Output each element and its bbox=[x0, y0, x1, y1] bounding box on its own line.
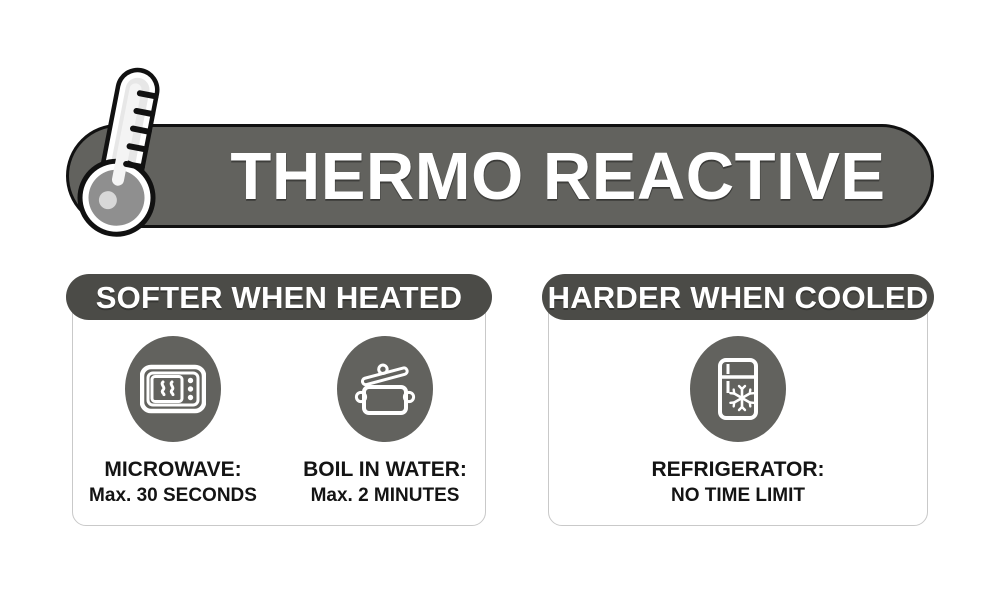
panels-container: SOFTER WHEN HEATED bbox=[66, 274, 934, 526]
microwave-icon-badge bbox=[125, 336, 221, 442]
microwave-icon bbox=[140, 363, 206, 415]
refrigerator-icon bbox=[714, 357, 762, 421]
refrigerator-icon-badge bbox=[690, 336, 786, 442]
item-label: REFRIGERATOR: bbox=[651, 458, 824, 482]
items-row: REFRIGERATOR: NO TIME LIMIT bbox=[645, 320, 831, 506]
thermometer-icon bbox=[62, 50, 202, 250]
item-microwave: MICROWAVE: Max. 30 SECONDS bbox=[80, 336, 266, 506]
panel-header-label: HARDER WHEN COOLED bbox=[548, 282, 929, 313]
item-label: MICROWAVE: bbox=[104, 458, 241, 482]
item-sublabel: Max. 30 SECONDS bbox=[89, 485, 257, 507]
pot-icon bbox=[352, 361, 418, 417]
panel-header-harder: HARDER WHEN COOLED bbox=[542, 274, 934, 320]
item-refrigerator: REFRIGERATOR: NO TIME LIMIT bbox=[645, 336, 831, 506]
item-label: BOIL IN WATER: bbox=[303, 458, 467, 482]
items-row: MICROWAVE: Max. 30 SECONDS bbox=[80, 320, 478, 506]
panel-header-label: SOFTER WHEN HEATED bbox=[96, 282, 462, 313]
infographic-root: THERMO REACTIVE bbox=[0, 0, 1000, 607]
panel-header-softer: SOFTER WHEN HEATED bbox=[66, 274, 492, 320]
item-sublabel: Max. 2 MINUTES bbox=[311, 485, 460, 507]
pot-icon-badge bbox=[337, 336, 433, 442]
item-boil-in-water: BOIL IN WATER: Max. 2 MINUTES bbox=[292, 336, 478, 506]
item-sublabel: NO TIME LIMIT bbox=[671, 485, 805, 507]
